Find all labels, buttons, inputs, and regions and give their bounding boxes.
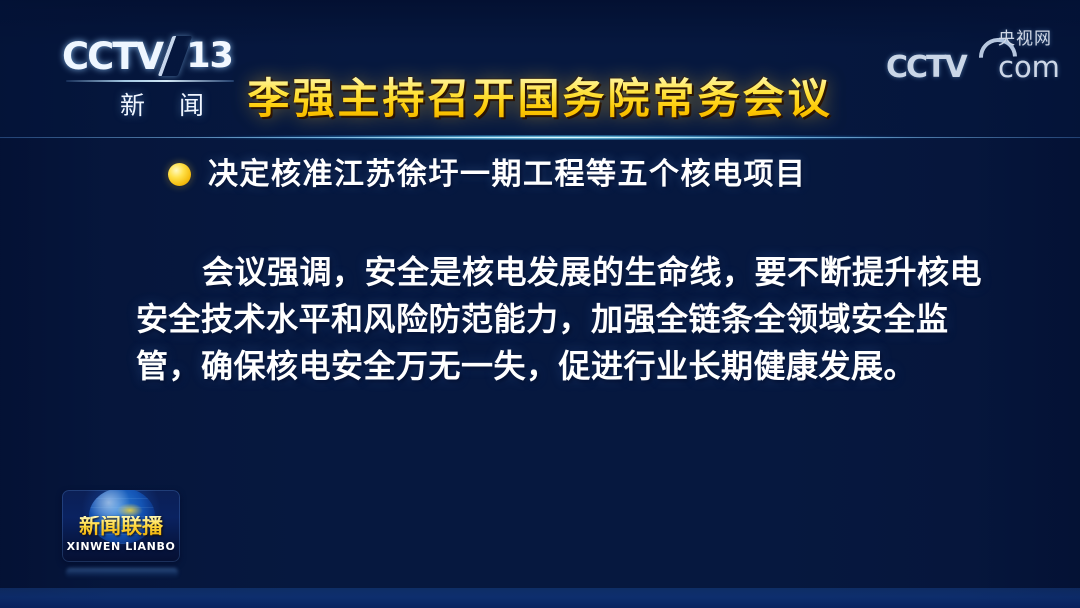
body-line: 管，确保核电安全万无一失，促进行业长期健康发展。 [136,343,936,390]
xinwen-lianbo-program-logo: 新闻联播 XINWEN LIANBO [62,490,180,562]
cctv-logo-row: CCTV 13 [62,34,242,78]
cctv-channel-number: 13 [186,39,233,74]
program-title-cn: 新闻联播 [62,516,180,537]
news-subtitle-row: 决定核准江苏徐圩一期工程等五个核电项目 [168,158,807,191]
news-headline: 李强主持召开国务院常务会议 [0,76,1080,122]
news-subtitle-text: 决定核准江苏徐圩一期工程等五个核电项目 [208,158,807,191]
cctv-wordmark-text: CCTV [62,38,162,75]
program-title-pinyin: XINWEN LIANBO [62,541,180,552]
broadcast-lower-third-screen: CCTV 13 新 闻 CCTV 央视网 com 李强主持召开国务院常务会议 决… [0,0,1080,608]
news-body-paragraph: 会议强调，安全是核电发展的生命线，要不断提升核电 安全技术水平和风险防范能力，加… [136,249,936,390]
body-line: 会议强调，安全是核电发展的生命线，要不断提升核电 [136,249,936,296]
bullet-dot-icon [168,163,191,186]
header-divider-line [0,137,1080,138]
program-logo-reflection [66,568,178,578]
watermark-site-name-cn: 央视网 [998,31,1052,48]
body-line: 安全技术水平和风险防范能力，加强全链条全领域安全监 [136,296,936,343]
